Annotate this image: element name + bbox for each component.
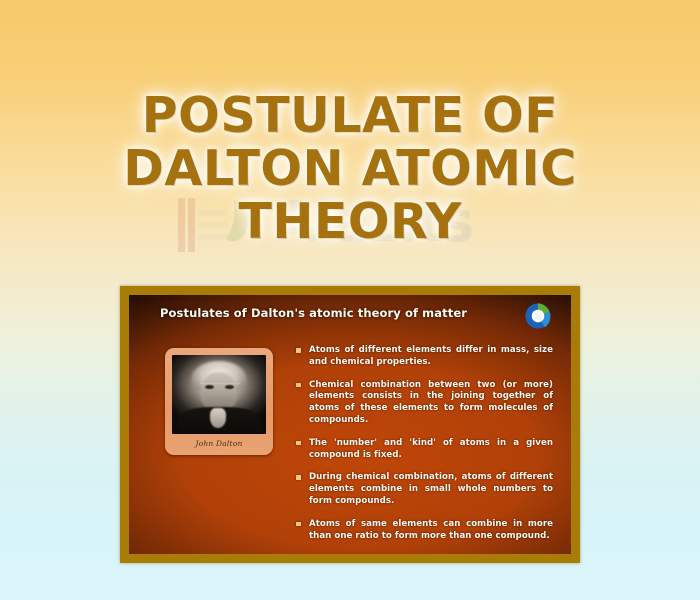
presentation-slide: Postulates of Dalton's atomic theory of …: [129, 295, 571, 554]
bullet-square-icon: [296, 475, 301, 480]
page-title-line-1: POSTULATE OF: [0, 89, 700, 142]
globe-leaf-logo-icon: [524, 302, 552, 330]
list-item: Chemical combination between two (or mor…: [296, 380, 553, 427]
list-item-text: Atoms of same elements can combine in mo…: [309, 519, 553, 541]
page-root: Alazits POSTULATE OF DALTON ATOMIC THEOR…: [0, 0, 700, 600]
list-item: The 'number' and 'kind' of atoms in a gi…: [296, 438, 553, 462]
slide-frame: Postulates of Dalton's atomic theory of …: [120, 286, 580, 563]
list-item-text: The 'number' and 'kind' of atoms in a gi…: [309, 438, 553, 460]
list-item-text: Chemical combination between two (or mor…: [309, 380, 553, 425]
page-title: POSTULATE OF DALTON ATOMIC THEORY: [0, 89, 700, 248]
postulates-list: Atoms of different elements differ in ma…: [296, 345, 553, 542]
page-title-line-2: DALTON ATOMIC: [0, 142, 700, 195]
list-item: During chemical combination, atoms of di…: [296, 472, 553, 507]
portrait-card: John Dalton: [165, 348, 273, 455]
list-item: Atoms of different elements differ in ma…: [296, 345, 553, 369]
bullet-square-icon: [296, 441, 301, 446]
list-item: Atoms of same elements can combine in mo…: [296, 519, 553, 543]
list-item-text: Atoms of different elements differ in ma…: [309, 345, 553, 367]
portrait-eye-left: [205, 385, 214, 389]
list-item-text: During chemical combination, atoms of di…: [309, 472, 553, 506]
portrait-caption: John Dalton: [172, 434, 266, 453]
slide-title: Postulates of Dalton's atomic theory of …: [160, 306, 467, 320]
bullet-square-icon: [296, 522, 301, 527]
portrait-collar: [210, 408, 226, 428]
portrait-eye-right: [225, 385, 234, 389]
john-dalton-portrait-icon: [172, 355, 266, 434]
page-title-line-3: THEORY: [0, 195, 700, 248]
bullet-square-icon: [296, 348, 301, 353]
bullet-square-icon: [296, 383, 301, 388]
portrait-face: [201, 372, 237, 412]
